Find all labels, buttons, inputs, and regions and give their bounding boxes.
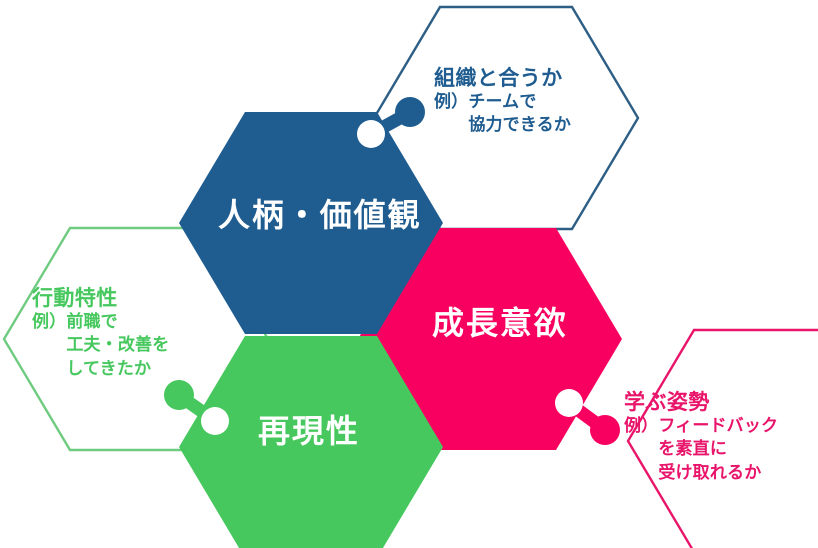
note-title-behavioral-traits: 行動特性: [32, 286, 169, 311]
note-example-line: 受け取れるか: [658, 462, 778, 485]
note-body-learning-attitude: 例） フィードバック を素直に 受け取れるか: [624, 415, 778, 485]
note-example-line: フィードバック: [658, 415, 778, 438]
note-behavioral-traits: 行動特性 例） 前職で 工夫・改善を してきたか: [32, 286, 169, 381]
note-example-lines-organization-fit: チームで 協力できるか: [468, 91, 571, 138]
note-example-prefix-behavioral-traits: 例）: [32, 311, 66, 334]
note-title-learning-attitude: 学ぶ姿勢: [624, 390, 778, 415]
note-example-prefix-learning-attitude: 例）: [624, 415, 658, 438]
note-organization-fit: 組織と合うか 例） チームで 協力できるか: [434, 66, 571, 138]
hexagon-label-reproducibility: 再現性: [258, 406, 360, 452]
note-example-prefix-organization-fit: 例）: [434, 91, 468, 114]
note-body-behavioral-traits: 例） 前職で 工夫・改善を してきたか: [32, 311, 169, 381]
hexagon-diagram: 人柄・価値観 再現性 成長意欲 組織と合うか 例） チームで 協力できるか 行動…: [0, 0, 818, 548]
note-example-line: 工夫・改善を: [66, 334, 169, 357]
note-title-organization-fit: 組織と合うか: [434, 66, 571, 91]
note-example-line: 前職で: [66, 311, 169, 334]
note-example-line: してきたか: [66, 358, 169, 381]
note-learning-attitude: 学ぶ姿勢 例） フィードバック を素直に 受け取れるか: [624, 390, 778, 485]
hexagon-label-growth: 成長意欲: [432, 298, 568, 344]
note-body-organization-fit: 例） チームで 協力できるか: [434, 91, 571, 138]
note-example-line: チームで: [468, 91, 571, 114]
note-example-lines-learning-attitude: フィードバック を素直に 受け取れるか: [658, 415, 778, 485]
note-example-lines-behavioral-traits: 前職で 工夫・改善を してきたか: [66, 311, 169, 381]
hexagon-label-personality: 人柄・価値観: [218, 190, 422, 236]
note-example-line: 協力できるか: [468, 114, 571, 137]
note-example-line: を素直に: [658, 438, 778, 461]
